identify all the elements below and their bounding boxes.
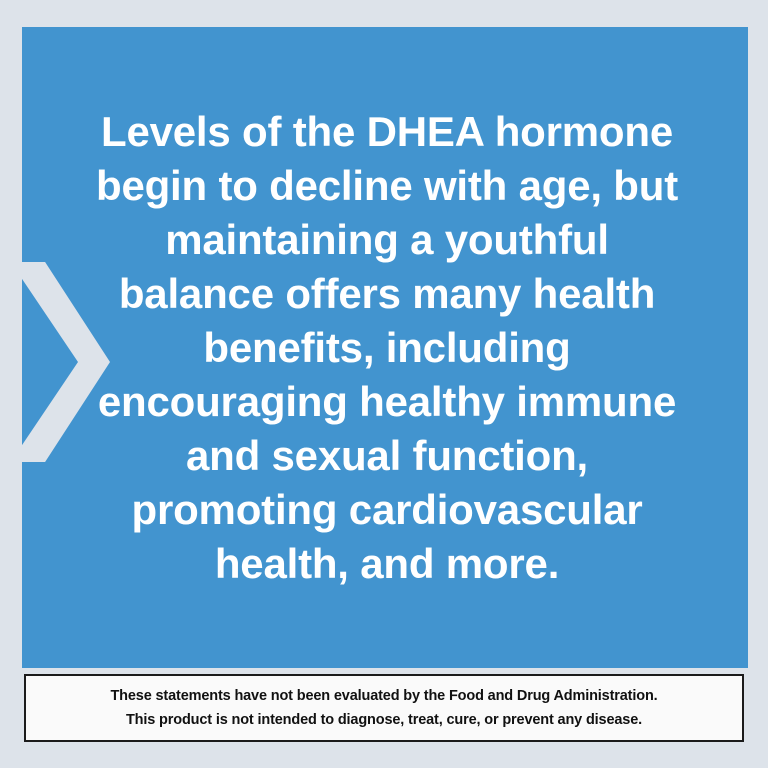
disclaimer-line-1: These statements have not been evaluated… bbox=[110, 684, 657, 708]
quote-panel: Levels of the DHEA hormone begin to decl… bbox=[22, 27, 748, 668]
fda-disclaimer-box: These statements have not been evaluated… bbox=[24, 674, 744, 742]
quote-text: Levels of the DHEA hormone begin to decl… bbox=[92, 105, 682, 591]
disclaimer-line-2: This product is not intended to diagnose… bbox=[126, 708, 642, 732]
product-info-card: Levels of the DHEA hormone begin to decl… bbox=[0, 0, 768, 768]
